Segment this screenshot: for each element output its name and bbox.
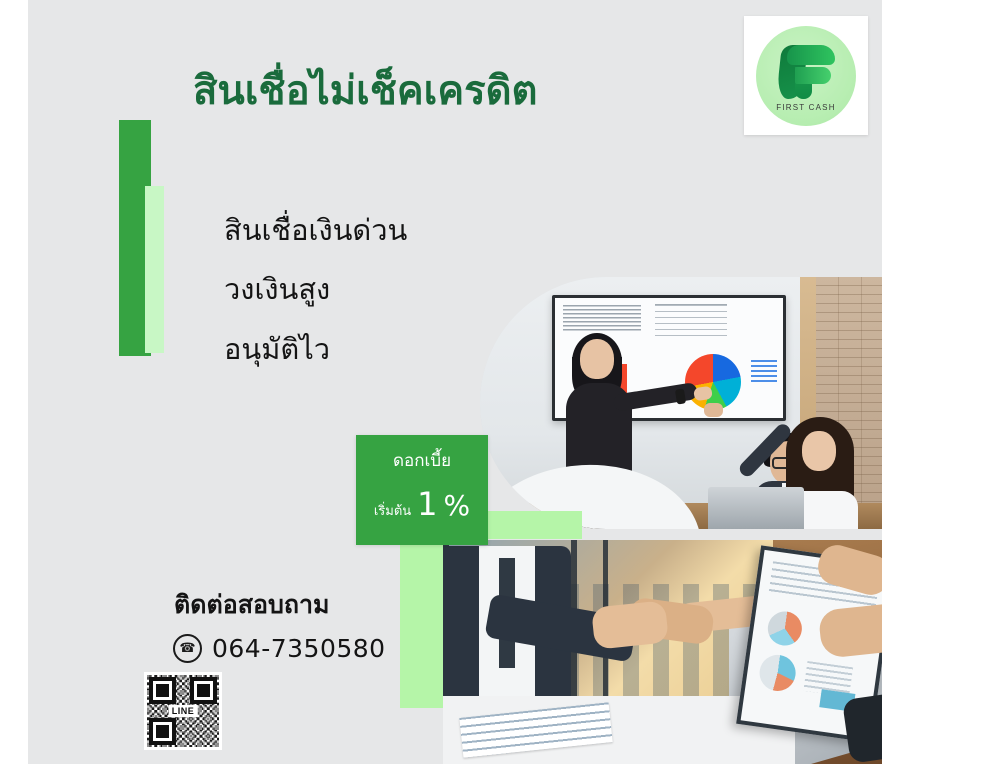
poster-canvas: สินเชื่อไม่เช็คเครดิต สินเชื่อเงินด่วน ว… [28, 0, 882, 764]
photo-screen-text [563, 305, 641, 331]
badge-rate: เริ่มต้น 1 % [374, 485, 470, 523]
phone-circle-icon: ☎ [173, 634, 202, 663]
logo-circle: FIRST CASH [756, 26, 856, 126]
qr-finder-top-left [149, 677, 176, 704]
photo-screen-table [655, 304, 727, 339]
photo-screen-pie-chart [685, 354, 741, 410]
badge-unit: % [444, 489, 471, 522]
badge-prefix: เริ่มต้น [374, 500, 411, 521]
logo-text: FIRST CASH [756, 103, 856, 112]
business-presentation-photo [480, 277, 882, 529]
qr-finder-top-right [190, 677, 217, 704]
feature-list: สินเชื่อเงินด่วน วงเงินสูง อนุมัติไว [224, 212, 407, 367]
badge-title: ดอกเบี้ย [393, 451, 451, 471]
contact-heading: ติดต่อสอบถาม [174, 585, 330, 625]
badge-value: 1 [417, 485, 437, 523]
photo-screen-legend [751, 360, 777, 384]
list-item: วงเงินสูง [224, 271, 407, 307]
list-item: อนุมัติไว [224, 331, 407, 367]
interest-rate-badge: ดอกเบี้ย เริ่มต้น 1 % [356, 435, 488, 545]
photo-laptop [708, 487, 804, 529]
qr-canvas: LINE [147, 675, 219, 747]
qr-label: LINE [169, 705, 198, 717]
brand-logo: FIRST CASH [744, 16, 868, 135]
phone-row[interactable]: ☎ 064-7350580 [173, 634, 386, 663]
list-item: สินเชื่อเงินด่วน [224, 212, 407, 248]
qr-finder-bottom-left [149, 718, 176, 745]
letter-f-emblem-icon [777, 43, 835, 101]
phone-number[interactable]: 064-7350580 [212, 634, 386, 663]
photo-hand-left [591, 600, 669, 650]
handshake-documents-photo [443, 540, 882, 764]
accent-bar-light [145, 186, 164, 353]
line-qr-code[interactable]: LINE [144, 672, 222, 750]
page-title: สินเชื่อไม่เช็คเครดิต [193, 66, 538, 116]
